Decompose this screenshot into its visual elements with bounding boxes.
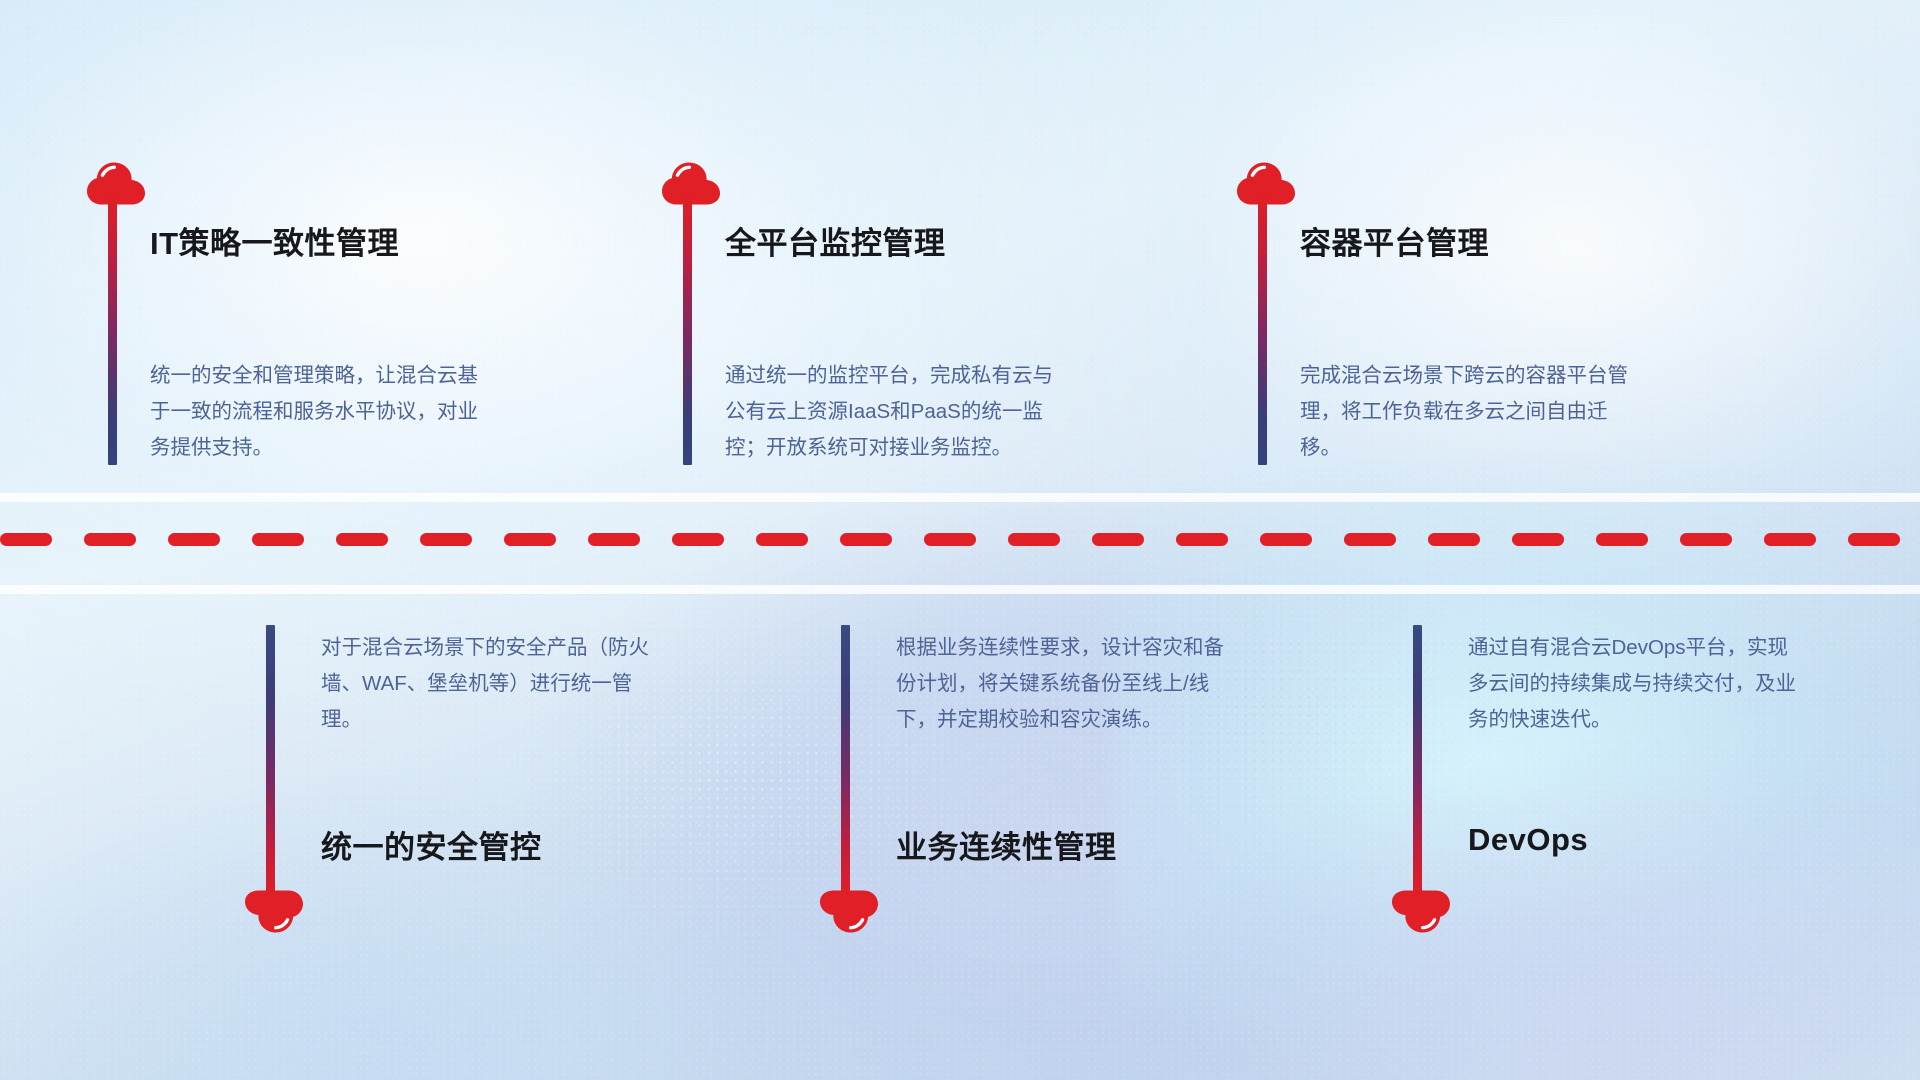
divider-dash [1008,533,1060,546]
divider-dash [1764,533,1816,546]
column-body: 统一的安全和管理策略，让混合云基于一致的流程和服务水平协议，对业务提供支持。 [150,358,490,466]
divider-rule-bottom [0,585,1920,594]
divider-dash [840,533,892,546]
column-title: 容器平台管理 [1300,218,1489,263]
column-body: 通过自有混合云DevOps平台，实现多云间的持续集成与持续交付，及业务的快速迭代… [1468,630,1808,738]
divider-dash [756,533,808,546]
divider-dash [168,533,220,546]
divider-dash [0,533,52,546]
divider-dash [1596,533,1648,546]
column-body: 完成混合云场景下跨云的容器平台管理，将工作负载在多云之间自由迁移。 [1300,358,1640,466]
infographic-canvas: IT策略一致性管理 统一的安全和管理策略，让混合云基于一致的流程和服务水平协议，… [0,0,1920,1080]
cloud-icon [1391,890,1451,937]
divider-dash [336,533,388,546]
divider-dashed-line [0,532,1920,546]
divider-dash [252,533,304,546]
connector-stem [266,625,275,895]
connector-stem [1413,625,1422,895]
divider-dash [1092,533,1144,546]
column-body: 通过统一的监控平台，完成私有云与公有云上资源IaaS和PaaS的统一监控；开放系… [725,358,1065,466]
divider-dash [84,533,136,546]
divider [0,480,1920,600]
column-title: DevOps [1468,822,1588,858]
divider-dash [1344,533,1396,546]
connector-stem [1258,195,1267,465]
divider-dash [588,533,640,546]
column-title: 业务连续性管理 [896,822,1117,867]
divider-dash [1428,533,1480,546]
connector-stem [108,195,117,465]
divider-dash [420,533,472,546]
column-body: 对于混合云场景下的安全产品（防火墙、WAF、堡垒机等）进行统一管理。 [321,630,661,738]
column-body: 根据业务连续性要求，设计容灾和备份计划，将关键系统备份至线上/线下，并定期校验和… [896,630,1236,738]
divider-dash [1176,533,1228,546]
divider-dash [1680,533,1732,546]
divider-dash [504,533,556,546]
divider-dash [924,533,976,546]
cloud-icon [819,890,879,937]
connector-stem [841,625,850,895]
column-title: 全平台监控管理 [725,218,946,263]
column-title: IT策略一致性管理 [150,218,399,263]
divider-dash [1260,533,1312,546]
column-title: 统一的安全管控 [321,822,542,867]
connector-stem [683,195,692,465]
divider-dash [1848,533,1900,546]
divider-dash [672,533,724,546]
divider-dash [1512,533,1564,546]
divider-rule-top [0,493,1920,502]
cloud-icon [244,890,304,937]
